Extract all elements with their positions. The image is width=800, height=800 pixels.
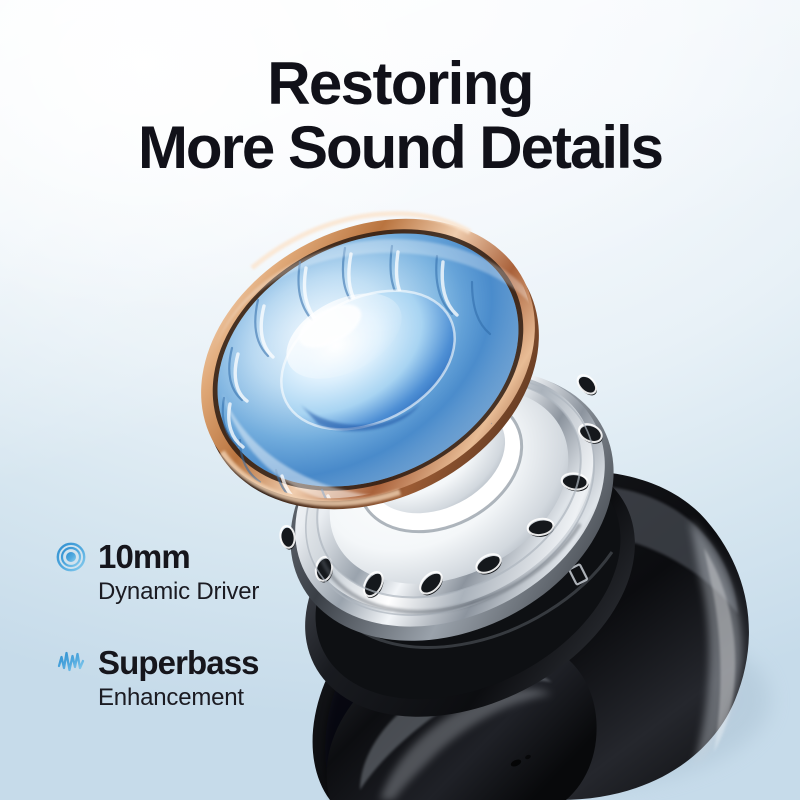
feature-subtitle: Dynamic Driver	[98, 580, 259, 604]
feature-heading-row: 10mm	[56, 540, 259, 573]
headline-line-1: Restoring	[0, 52, 800, 116]
headline: Restoring More Sound Details	[0, 52, 800, 179]
feature-subtitle: Enhancement	[98, 686, 259, 710]
diaphragm	[153, 164, 588, 564]
housing-collar	[261, 400, 680, 769]
feature-dynamic-driver: 10mm Dynamic Driver	[56, 540, 259, 604]
perforation-ring	[273, 369, 653, 653]
headline-line-2: More Sound Details	[0, 116, 800, 180]
feature-list: 10mm Dynamic Driver Superbass Enhancemen…	[56, 540, 259, 752]
concentric-circles-icon	[56, 542, 86, 572]
feature-superbass: Superbass Enhancement	[56, 646, 259, 710]
feature-title: Superbass	[98, 646, 259, 679]
sound-wave-icon	[56, 648, 86, 678]
feature-title: 10mm	[98, 540, 190, 573]
magnet-assembly	[244, 318, 660, 693]
feature-heading-row: Superbass	[56, 646, 259, 679]
product-marketing-banner: Restoring More Sound Details 10mm Dynami…	[0, 0, 800, 800]
earbud-housing	[313, 471, 770, 800]
